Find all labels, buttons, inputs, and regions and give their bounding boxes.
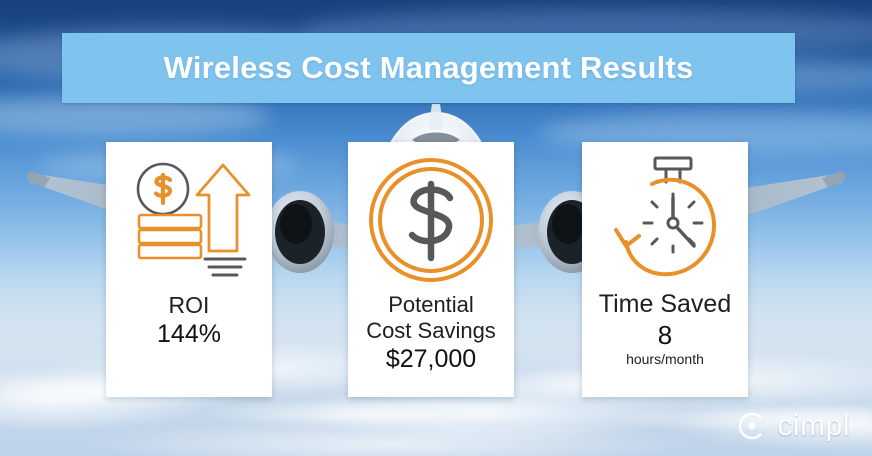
time-unit: hours/month xyxy=(560,351,770,368)
metric-card-roi: ROI 144% xyxy=(106,142,272,397)
savings-value: $27,000 xyxy=(326,344,536,374)
savings-label-line2: Cost Savings xyxy=(326,318,536,344)
cimpl-circle-dot-icon xyxy=(736,410,768,442)
metric-card-savings: Potential Cost Savings $27,000 xyxy=(348,142,514,397)
savings-icon-wrap xyxy=(348,150,514,290)
savings-label-line1: Potential xyxy=(326,292,536,318)
metric-card-time: Time Saved 8 hours/month xyxy=(582,142,748,397)
coins-growth-arrow-icon xyxy=(127,157,251,283)
header-banner: Wireless Cost Management Results xyxy=(62,33,795,103)
roi-text: ROI 144% xyxy=(84,292,294,349)
time-text: Time Saved 8 hours/month xyxy=(560,290,770,367)
brand-logo: cimpl xyxy=(736,410,850,442)
logo-wordmark: cimpl xyxy=(777,411,850,441)
savings-text: Potential Cost Savings $27,000 xyxy=(326,292,536,374)
time-icon-wrap xyxy=(582,150,748,290)
slide-canvas: Wireless Cost Management Results xyxy=(0,0,872,456)
roi-label: ROI xyxy=(84,292,294,319)
dollar-coin-icon xyxy=(365,154,497,286)
stopwatch-icon xyxy=(600,154,730,286)
time-value: 8 xyxy=(560,320,770,351)
time-label: Time Saved xyxy=(560,290,770,320)
page-title: Wireless Cost Management Results xyxy=(164,50,694,86)
roi-icon-wrap xyxy=(106,150,272,290)
roi-value: 144% xyxy=(84,319,294,349)
